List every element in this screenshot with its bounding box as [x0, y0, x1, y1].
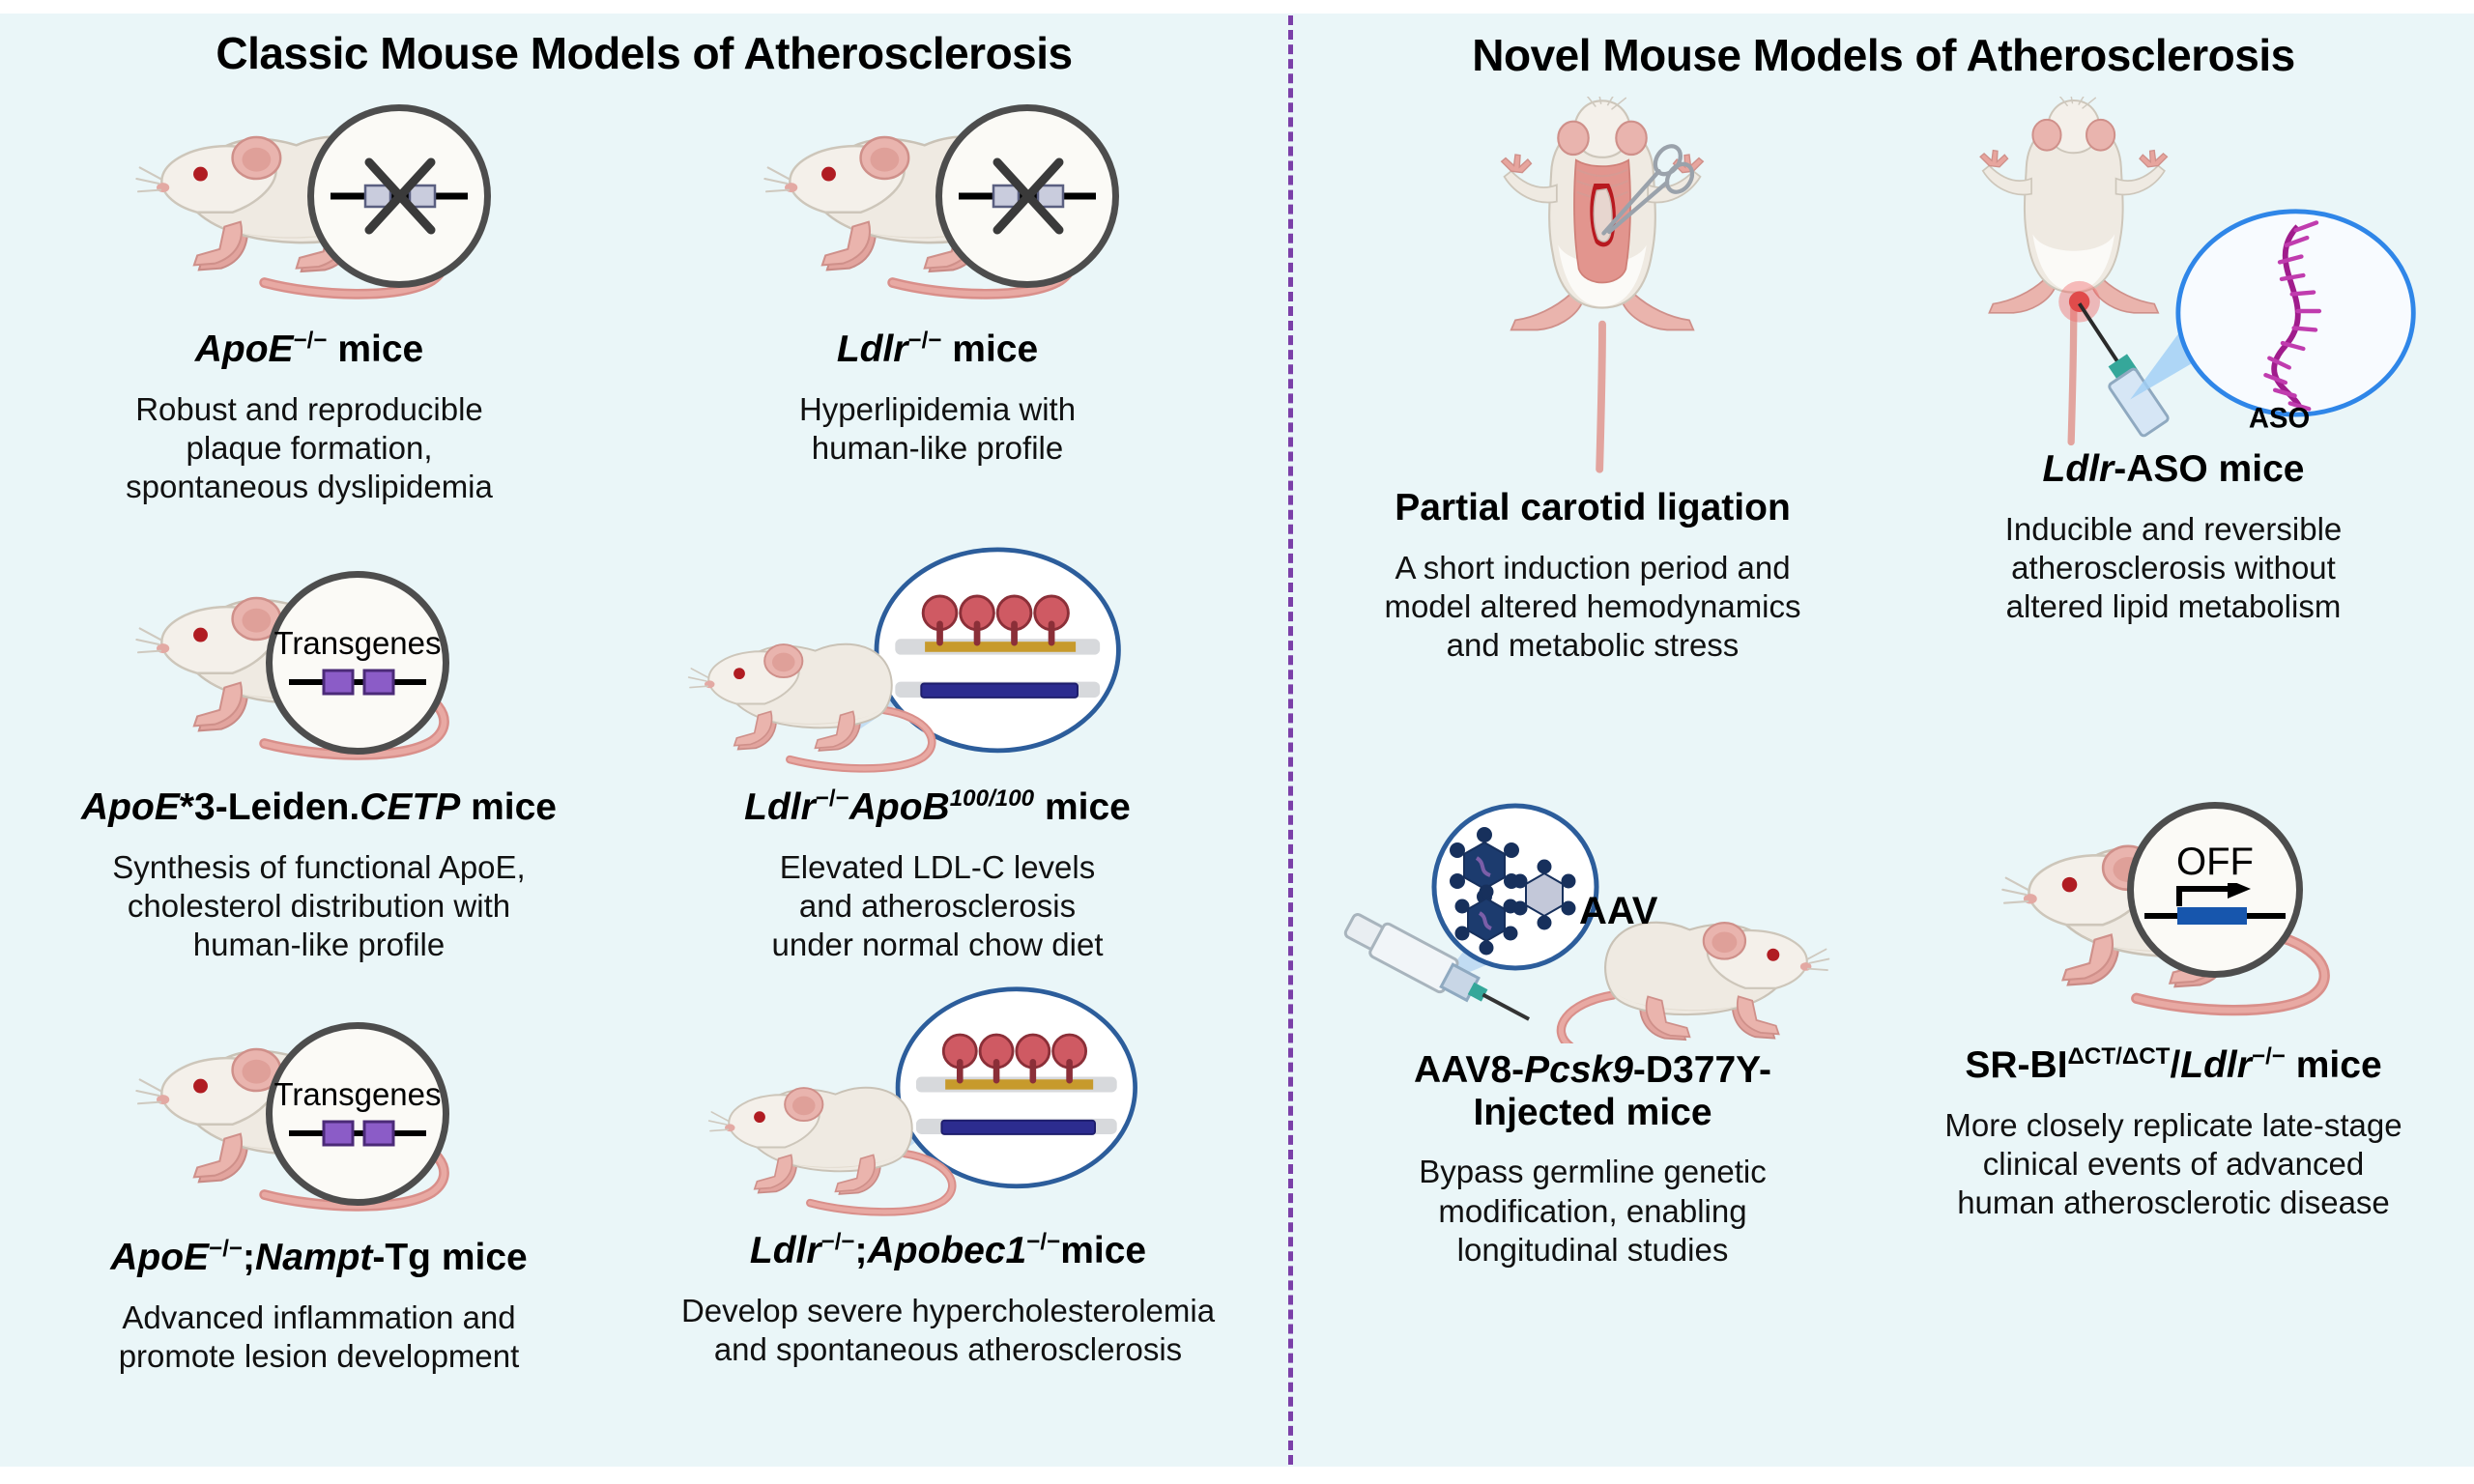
- card-desc-ldlr-aso: Inducible and reversibleatherosclerosis …: [1873, 510, 2474, 627]
- card-desc-ldlr-apobec1: Develop severe hypercholesterolemiaand s…: [615, 1292, 1281, 1370]
- art-apoe3-leiden-cetp: Transgenes: [68, 565, 570, 773]
- card-partial-carotid-ligation: Partial carotid ligation A short inducti…: [1293, 97, 1892, 665]
- top-margin: [0, 0, 2474, 14]
- aav-label: AAV: [1579, 890, 1658, 932]
- card-apoe3-leiden-cetp: Transgenes ApoE*3-Leiden.CETP mice Synth…: [0, 565, 638, 964]
- transgenes-circle-icon: Transgenes: [266, 1022, 449, 1206]
- card-label-srbi-ldlr: SR-BIΔCT/ΔCT/Ldlr−/− mice: [1873, 1043, 2474, 1087]
- card-ldlr-apob100: Ldlr−/−ApoB100/100 mice Elevated LDL-C l…: [638, 527, 1237, 964]
- card-desc-partial-carotid-ligation: A short induction period andmodel altere…: [1293, 549, 1892, 666]
- gene-knockout-glyph: [955, 153, 1100, 240]
- gene-off-circle-icon: OFF: [2127, 802, 2303, 978]
- card-desc-aav8-pcsk9: Bypass germline geneticmodification, ena…: [1293, 1153, 1892, 1270]
- art-srbi-ldlr: OFF: [1922, 802, 2425, 1034]
- mouse-surgery-forceps-icon: [1448, 97, 1757, 483]
- card-apoe-nampt-tg: Transgenes ApoE−/−;Nampt-Tg mice Advance…: [0, 1016, 638, 1376]
- card-ldlr-apobec1: Ldlr−/−;Apobec1−/−mice Develop severe hy…: [615, 976, 1281, 1369]
- aso-injection-bubble-icon: ASO: [1922, 97, 2425, 454]
- aso-label: ASO: [2249, 404, 2310, 435]
- transgene-construct-glyph: [285, 1116, 430, 1151]
- card-label-ldlr-ko: Ldlr−/− mice: [638, 328, 1237, 371]
- art-ldlr-apob100: [667, 527, 1208, 778]
- transgenes-label: Transgenes: [273, 627, 441, 659]
- transgenes-label: Transgenes: [273, 1078, 441, 1110]
- mouse-illustration: [687, 1059, 996, 1223]
- art-ldlr-ko: [686, 106, 1189, 314]
- card-apoe-ko: ApoE−/− mice Robust and reproducibleplaq…: [0, 106, 618, 506]
- panel-title-classic: Classic Mouse Models of Atherosclerosis: [0, 27, 1288, 79]
- transgene-construct-glyph: [285, 665, 430, 699]
- transgenes-circle-icon: Transgenes: [266, 571, 449, 755]
- card-desc-srbi-ldlr: More closely replicate late-stageclinica…: [1873, 1106, 2474, 1223]
- art-apoe-ko: [58, 106, 561, 314]
- card-aav8-pcsk9: AAV AAV8-Pcsk9-D377Y-Injected mice Bypas…: [1293, 802, 1892, 1270]
- card-label-apoe-nampt-tg: ApoE−/−;Nampt-Tg mice: [0, 1236, 638, 1279]
- mouse-illustration: [667, 615, 976, 780]
- card-desc-apoe-nampt-tg: Advanced inflammation andpromote lesion …: [0, 1298, 638, 1377]
- card-label-ldlr-apobec1: Ldlr−/−;Apobec1−/−mice: [615, 1229, 1281, 1272]
- gene-knockout-glyph: [327, 153, 472, 240]
- card-label-aav8-pcsk9: AAV8-Pcsk9-D377Y-Injected mice: [1293, 1049, 1892, 1133]
- card-label-apoe-ko: ApoE−/− mice: [0, 328, 618, 371]
- knockout-gene-circle-icon: [307, 104, 491, 288]
- art-ldlr-apobec1: [677, 976, 1219, 1227]
- card-ldlr-ko: Ldlr−/− mice Hyperlipidemia withhuman-li…: [638, 106, 1237, 468]
- art-aav8-pcsk9: AAV: [1322, 802, 1863, 1043]
- card-srbi-ldlr: OFF SR-BIΔCT/ΔCT/Ldlr−/− mice More close…: [1873, 802, 2474, 1222]
- card-label-partial-carotid-ligation: Partial carotid ligation: [1293, 487, 1892, 529]
- card-desc-ldlr-ko: Hyperlipidemia withhuman-like profile: [638, 390, 1237, 469]
- card-desc-apoe-ko: Robust and reproducibleplaque formation,…: [0, 390, 618, 507]
- promoter-arrow-glyph: [2143, 883, 2287, 937]
- figure-canvas: Classic Mouse Models of Atherosclerosis: [0, 0, 2474, 1484]
- panel-title-novel: Novel Mouse Models of Atherosclerosis: [1293, 29, 2474, 81]
- card-desc-ldlr-apob100: Elevated LDL-C levelsand atherosclerosis…: [638, 848, 1237, 965]
- card-label-apoe3-leiden-cetp: ApoE*3-Leiden.CETP mice: [0, 786, 638, 829]
- off-label: OFF: [2176, 842, 2254, 881]
- knockout-gene-circle-icon: [935, 104, 1119, 288]
- bottom-margin: [0, 1467, 2474, 1484]
- aav-syringe-bubble-icon: AAV: [1341, 802, 1844, 1043]
- art-ldlr-aso: ASO: [1903, 97, 2444, 464]
- art-apoe-nampt-tg: Transgenes: [68, 1016, 570, 1224]
- art-partial-carotid-ligation: [1390, 97, 1796, 493]
- card-ldlr-aso: ASO Ldlr-ASO mice Inducible and reversib…: [1873, 97, 2474, 626]
- card-desc-apoe3-leiden-cetp: Synthesis of functional ApoE,cholesterol…: [0, 848, 638, 965]
